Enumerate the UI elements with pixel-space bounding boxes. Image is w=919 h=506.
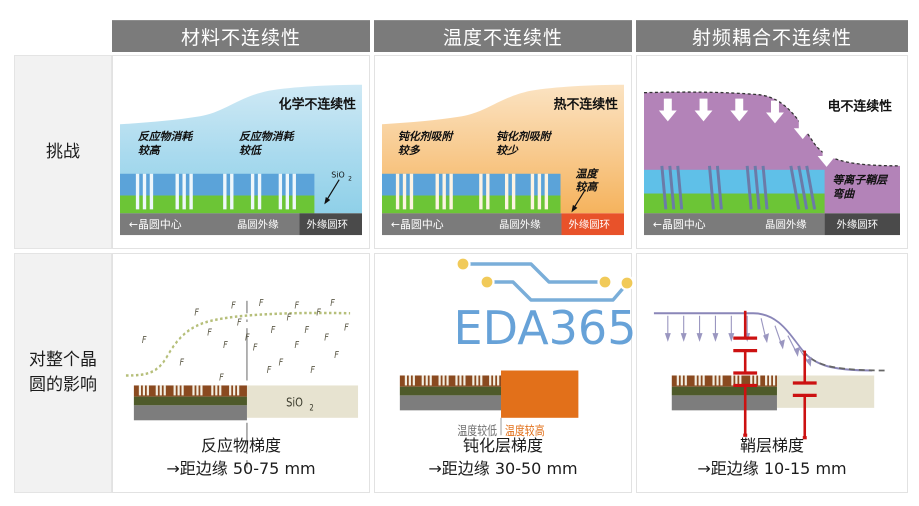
svg-text:SiO: SiO	[286, 396, 303, 410]
svg-text:F: F	[245, 333, 250, 344]
svg-text:较高: 较高	[575, 181, 599, 194]
svg-text:较低: 较低	[239, 144, 263, 157]
svg-text:化学不连续性: 化学不连续性	[279, 97, 356, 113]
column-header-label: 温度不连续性	[443, 23, 563, 50]
svg-text:外缘圆环: 外缘圆环	[306, 218, 348, 231]
column-header-label: 材料不连续性	[181, 23, 301, 50]
svg-text:F: F	[324, 333, 329, 344]
comparison-table: 材料不连续性 温度不连续性 射频耦合不连续性 挑战 对整个晶圆的影响	[0, 0, 919, 506]
svg-text:较多: 较多	[398, 144, 421, 157]
svg-text:热不连续性: 热不连续性	[554, 97, 619, 113]
svg-text:温度: 温度	[575, 168, 599, 181]
svg-text:F: F	[316, 308, 321, 319]
svg-text:F: F	[287, 313, 292, 324]
caption-material-impact: 反应物梯度 →距边缘 50-75 mm	[113, 434, 369, 480]
svg-text:弯曲: 弯曲	[833, 188, 856, 201]
row-label-text: 挑战	[46, 140, 80, 165]
cell-impact-rf: 鞘层梯度 →距边缘 10-15 mm	[636, 253, 908, 493]
svg-text:F: F	[180, 358, 185, 369]
svg-text:←晶圆中心: ←晶圆中心	[653, 218, 706, 231]
svg-text:F: F	[310, 365, 315, 376]
svg-text:钝化剂吸附: 钝化剂吸附	[398, 130, 455, 143]
svg-text:SiO: SiO	[331, 171, 344, 180]
svg-text:晶圆外缘: 晶圆外缘	[499, 218, 541, 231]
svg-text:F: F	[334, 350, 339, 361]
svg-text:晶圆外缘: 晶圆外缘	[765, 218, 807, 231]
caption-line-1: 鞘层梯度	[637, 434, 907, 457]
svg-text:F: F	[219, 373, 224, 384]
svg-text:钝化剂吸附: 钝化剂吸附	[496, 130, 553, 143]
svg-text:F: F	[295, 340, 300, 351]
svg-text:←晶圆中心: ←晶圆中心	[391, 218, 444, 231]
svg-text:电不连续性: 电不连续性	[828, 98, 893, 114]
row-label-text: 对整个晶圆的影响	[27, 348, 99, 398]
svg-text:F: F	[231, 301, 236, 312]
svg-text:F: F	[259, 298, 264, 309]
caption-line-1: 反应物梯度	[113, 434, 369, 457]
svg-text:F: F	[304, 325, 309, 336]
svg-text:F: F	[279, 358, 284, 369]
cell-impact-material: SiO 2	[112, 253, 370, 493]
cell-challenge-temperature: 温度 较高 ←晶圆中心 晶圆外缘 外缘圆环 热不连续性 钝化剂吸附 较多 钝化剂…	[374, 55, 632, 249]
svg-text:反应物消耗: 反应物消耗	[239, 130, 296, 143]
svg-text:F: F	[330, 298, 335, 309]
svg-text:←晶圆中心: ←晶圆中心	[129, 218, 182, 231]
column-header-temperature: 温度不连续性	[374, 20, 632, 52]
diagram-material-challenge: SiO 2 ←晶圆中心 晶圆外缘 外缘圆环 化学不连续性 反应物消耗 较高 反应…	[120, 63, 362, 241]
caption-temperature-impact: 钝化层梯度 →距边缘 30-50 mm	[375, 434, 631, 480]
svg-text:晶圆外缘: 晶圆外缘	[237, 218, 279, 231]
column-header-material: 材料不连续性	[112, 20, 370, 52]
svg-text:F: F	[267, 365, 272, 376]
svg-text:较高: 较高	[138, 144, 162, 157]
row-label-challenge: 挑战	[14, 55, 112, 249]
caption-rf-impact: 鞘层梯度 →距边缘 10-15 mm	[637, 434, 907, 480]
caption-line-2: →距边缘 50-75 mm	[113, 457, 369, 480]
diagram-rf-challenge: ←晶圆中心 晶圆外缘 外缘圆环 电不连续性 等离子鞘层 弯曲	[644, 63, 900, 241]
svg-text:F: F	[344, 323, 349, 334]
svg-text:F: F	[295, 301, 300, 312]
cell-challenge-rf: ←晶圆中心 晶圆外缘 外缘圆环 电不连续性 等离子鞘层 弯曲	[636, 55, 908, 249]
svg-text:反应物消耗: 反应物消耗	[138, 130, 195, 143]
diagram-temperature-challenge: 温度 较高 ←晶圆中心 晶圆外缘 外缘圆环 热不连续性 钝化剂吸附 较多 钝化剂…	[382, 63, 624, 241]
column-header-rf: 射频耦合不连续性	[636, 20, 908, 52]
svg-text:2: 2	[348, 176, 352, 183]
svg-text:较少: 较少	[496, 144, 519, 157]
svg-text:F: F	[271, 325, 276, 336]
svg-text:2: 2	[309, 403, 313, 413]
svg-text:F: F	[207, 328, 212, 339]
svg-text:F: F	[253, 343, 258, 354]
caption-line-1: 钝化层梯度	[375, 434, 631, 457]
svg-text:F: F	[194, 308, 199, 319]
svg-text:F: F	[237, 318, 242, 329]
caption-line-2: →距边缘 10-15 mm	[637, 457, 907, 480]
cell-impact-temperature: 温度较低 温度较高 钝化层梯度 →距边缘 30-50 mm	[374, 253, 632, 493]
column-header-label: 射频耦合不连续性	[692, 23, 852, 50]
svg-text:外缘圆环: 外缘圆环	[836, 218, 878, 231]
svg-text:外缘圆环: 外缘圆环	[568, 218, 610, 231]
cell-challenge-material: SiO 2 ←晶圆中心 晶圆外缘 外缘圆环 化学不连续性 反应物消耗 较高 反应…	[112, 55, 370, 249]
caption-line-2: →距边缘 30-50 mm	[375, 457, 631, 480]
svg-text:F: F	[142, 335, 147, 346]
svg-text:等离子鞘层: 等离子鞘层	[833, 174, 890, 187]
svg-text:F: F	[223, 340, 228, 351]
row-label-impact: 对整个晶圆的影响	[14, 253, 112, 493]
